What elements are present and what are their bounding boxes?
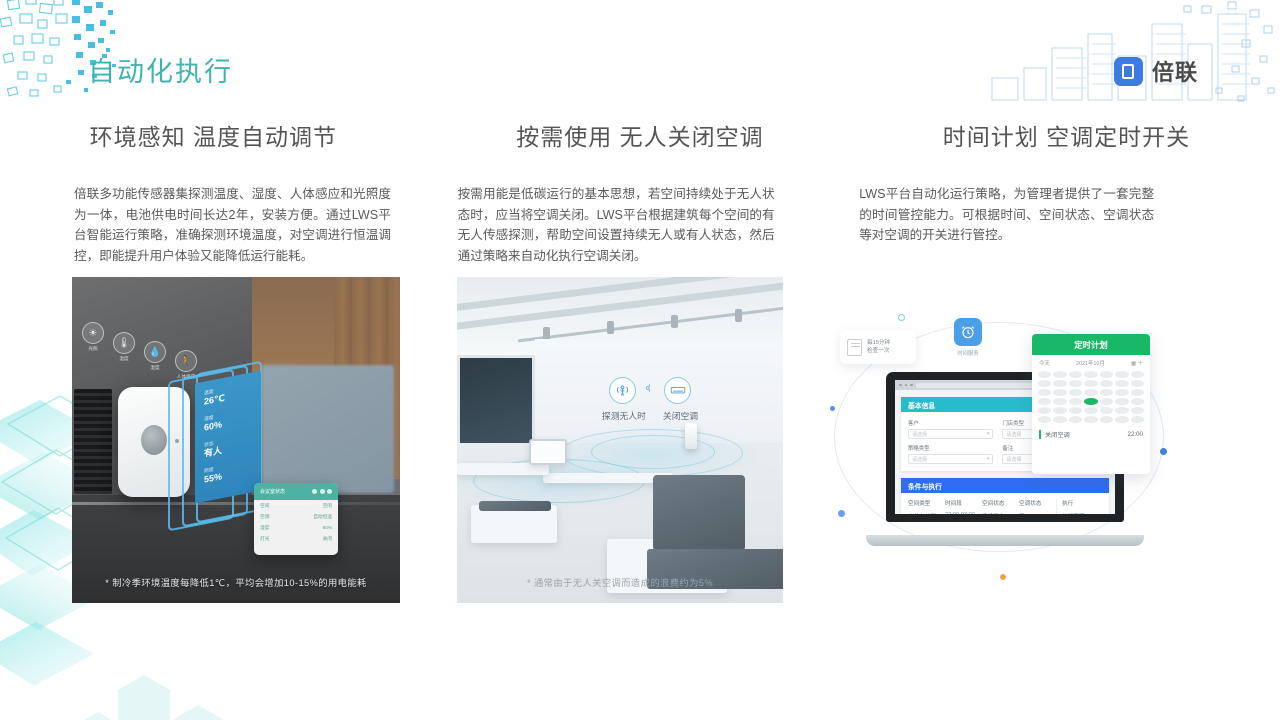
column-on-demand: 按需使用 无人关闭空调 按需用能是低碳运行的基本思想，若空间持续处于无人状态时，… <box>427 108 854 266</box>
brand-name: 倍联 <box>1152 55 1198 87</box>
motion-sensor-icon <box>609 377 636 404</box>
time-service-label: 时间服务 <box>954 349 982 357</box>
field-label: 策略类型 <box>908 444 993 452</box>
document-search-icon <box>847 339 862 356</box>
calendar-plan-item[interactable]: 关闭空调 22:00 <box>1039 430 1143 439</box>
status-key: 湿度 <box>260 525 269 531</box>
column-3-title: 时间计划 空调定时开关 <box>853 118 1280 152</box>
temperature-sensor-icon: 🌡 温度 <box>113 332 135 380</box>
form-field: 客户 请选择▾ <box>908 419 993 439</box>
column-header: 空调状态 <box>1019 499 1056 507</box>
deco-dot <box>838 510 845 517</box>
cell-value: 公共办公区 <box>908 512 945 514</box>
status-key: 空调 <box>260 514 269 520</box>
schedule-calendar-card: 定时计划 今天 2021年10月 ▦ ＋ 关闭空调 22:00 <box>1032 334 1150 474</box>
monitor-blur <box>262 365 394 493</box>
deco-dot <box>830 406 835 411</box>
status-value: 关闭 <box>323 536 332 542</box>
temperature-sensor-label: 温度 <box>113 356 135 362</box>
status-key: 空间 <box>260 503 269 509</box>
room-status-card: 会议室状态 空间空闲 空调自动恒温 湿度60% 灯光关闭 <box>254 483 338 555</box>
condition-table: 空间类型 公共办公区 时间段 22:00-07:00 空间状态 持续无人 <box>901 493 1109 514</box>
vent-grille <box>74 389 112 494</box>
field-select[interactable]: 请选择▾ <box>908 454 993 464</box>
check-interval-line2: 检查一次 <box>867 347 890 355</box>
column-header: 执行 <box>1062 499 1102 507</box>
calendar-month-label: 2021年10月 <box>1076 359 1105 367</box>
time-service-badge: 时间服务 <box>954 318 982 357</box>
humidity-sensor-label: 湿度 <box>144 365 166 371</box>
column-1-title: 环境感知 温度自动调节 <box>0 118 427 152</box>
status-value: 60% <box>323 525 332 531</box>
laptop-base <box>866 535 1144 546</box>
figure-schedule-mockup: 每15分钟 检查一次 时间服务 基本信息 <box>824 300 1184 590</box>
calendar-today-button[interactable]: 今天 <box>1039 359 1050 367</box>
status-value: 自动恒温 <box>313 514 332 520</box>
cell-value: 开 <box>1019 512 1056 514</box>
room-status-title: 会议室状态 <box>260 488 285 495</box>
deco-dot <box>1000 574 1006 580</box>
calendar-day-grid[interactable] <box>1032 371 1150 423</box>
table-column: 执行 关闭空调 <box>1056 499 1102 514</box>
cell-value: 关闭空调 <box>1062 512 1102 514</box>
calendar-title: 定时计划 <box>1032 334 1150 355</box>
plan-name: 关闭空调 <box>1045 430 1070 439</box>
column-3-body: LWS平台自动化运行策略，为管理者提供了一套完整的时间管控能力。可根据时间、空间… <box>859 184 1154 246</box>
condition-execution-section: 条件与执行 空间类型 公共办公区 时间段 22:00-07:00 <box>901 478 1109 514</box>
figure-office-photo: 探测无人时 关闭空调 * 通常由于无人关空调而造成的浪费约为5% <box>457 277 783 603</box>
page-title: 自动化执行 <box>88 50 233 89</box>
ceiling-sensor-device <box>685 423 697 449</box>
air-conditioner-icon <box>664 377 691 404</box>
sensor-capability-icons: ☀ 光照 🌡 温度 💧 湿度 🚶 人体感应 <box>82 322 197 380</box>
humidity-sensor-icon: 💧 湿度 <box>144 341 166 380</box>
sensor-lens-icon <box>141 425 167 455</box>
figure-1-caption: * 制冷季环境温度每降低1℃，平均会增加10-15%的用电能耗 <box>72 575 400 589</box>
calendar-actions[interactable]: ▦ ＋ <box>1131 359 1143 367</box>
status-key: 灯光 <box>260 536 269 542</box>
field-select[interactable]: 请选择▾ <box>908 429 993 439</box>
light-sensor-icon: ☀ 光照 <box>82 322 104 380</box>
figure-2-overlay: 探测无人时 关闭空调 <box>595 377 705 422</box>
cell-value: 持续无人 <box>982 512 1019 514</box>
check-interval-card: 每15分钟 检查一次 <box>840 330 916 364</box>
overlay-label-shutdown: 关闭空调 <box>663 409 698 422</box>
column-environment-sensing: 环境感知 温度自动调节 倍联多功能传感器集探测温度、湿度、人体感应和光照度为一体… <box>0 108 427 266</box>
light-sensor-label: 光照 <box>82 346 104 352</box>
content-columns: 环境感知 温度自动调节 倍联多功能传感器集探测温度、湿度、人体感应和光照度为一体… <box>0 108 1280 266</box>
sensor-readings-panel: 温度 26℃ 湿度 60% 状态 有人 照度 55% <box>195 371 261 504</box>
signal-wave-icon <box>644 381 656 400</box>
brand-logo: 倍联 <box>1114 55 1198 87</box>
column-1-body: 倍联多功能传感器集探测温度、湿度、人体感应和光照度为一体，电池供电时间长达2年，… <box>74 184 391 266</box>
deco-dot <box>1160 448 1167 455</box>
table-column: 空间类型 公共办公区 <box>908 499 945 514</box>
table-column: 空间状态 持续无人 <box>982 499 1019 514</box>
alarm-clock-icon <box>954 318 982 346</box>
chevron-down-icon: ▾ <box>987 431 990 437</box>
figure-2-caption: * 通常由于无人关空调而造成的浪费约为5% <box>457 575 783 589</box>
column-header: 空间类型 <box>908 499 945 507</box>
deco-dot <box>898 314 905 321</box>
table-column: 时间段 22:00-07:00 <box>945 499 982 514</box>
column-header: 空间状态 <box>982 499 1019 507</box>
column-2-body: 按需用能是低碳运行的基本思想，若空间持续处于无人状态时，应当将空调关闭。LWS平… <box>458 184 775 266</box>
field-label: 客户 <box>908 419 993 427</box>
plan-time: 22:00 <box>1128 431 1143 438</box>
condition-title: 条件与执行 <box>901 478 1109 493</box>
calendar-selected-day <box>1084 398 1097 405</box>
column-2-title: 按需使用 无人关闭空调 <box>427 118 854 152</box>
square-logo-icon <box>1114 57 1143 86</box>
figure-sensor-photo: ☀ 光照 🌡 温度 💧 湿度 🚶 人体感应 温 <box>72 277 400 603</box>
cell-value: 22:00-07:00 <box>945 512 982 514</box>
status-value: 空闲 <box>323 503 332 509</box>
check-interval-line1: 每15分钟 <box>867 339 890 347</box>
chevron-down-icon: ▾ <box>987 456 990 462</box>
column-header: 时间段 <box>945 499 982 507</box>
column-time-schedule: 时间计划 空调定时开关 LWS平台自动化运行策略，为管理者提供了一套完整的时间管… <box>853 108 1280 266</box>
status-dots-icon <box>312 489 332 494</box>
table-column: 空调状态 开 <box>1019 499 1056 514</box>
overlay-label-detect: 探测无人时 <box>602 409 646 422</box>
form-field: 策略类型 请选择▾ <box>908 444 993 464</box>
